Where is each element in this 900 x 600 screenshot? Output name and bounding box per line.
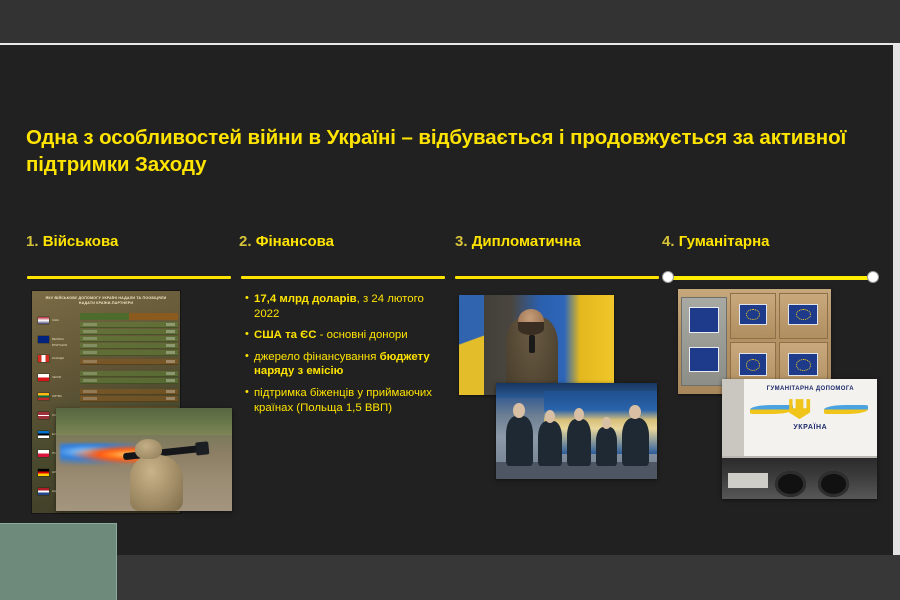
column-number-1: 1. — [26, 233, 39, 250]
slide-right-edge — [893, 45, 900, 555]
bullet-2-rest: - основні донори — [316, 329, 407, 341]
data-row — [80, 389, 178, 395]
flag-uk-icon — [38, 336, 49, 343]
flag-usa-icon — [38, 317, 49, 324]
tarp-side-fold — [722, 379, 744, 456]
column-header-2[interactable]: 2. Фінансова — [239, 233, 334, 250]
person-figure — [596, 427, 617, 465]
list-item: ЧЕХІЯ — [36, 370, 78, 389]
column-header-4[interactable]: 4. Гуманітарна — [662, 233, 770, 250]
list-item: США — [36, 313, 78, 332]
speaker-beard — [518, 322, 544, 335]
ukraine-trident-icon — [789, 399, 811, 419]
person-figure — [622, 418, 649, 466]
truck-wheel — [818, 471, 849, 496]
panel-header-band — [80, 313, 178, 320]
eu-flag-label-icon — [739, 304, 767, 325]
person-figure — [506, 416, 533, 466]
bullet-4-text: підтримка біженців у приймаючих країнах … — [254, 387, 432, 414]
flag-latvia-icon — [38, 412, 49, 419]
soldier-figure — [130, 455, 183, 511]
photo-treeline — [56, 408, 232, 435]
list-item: ВЕЛИКА БРИТАНІЯ — [36, 332, 78, 351]
truck-tarp: ГУМАНІТАРНА ДОПОМОГА УКРАЇНА — [722, 379, 877, 458]
list-item: КАНАДА — [36, 351, 78, 370]
flag-czech-icon — [38, 374, 49, 381]
flag-netherlands-icon — [38, 488, 49, 495]
tarp-country: УКРАЇНА — [744, 424, 877, 431]
column-label-3: Дипломатична — [472, 233, 581, 250]
data-row — [80, 322, 178, 328]
data-row — [80, 396, 178, 402]
green-overlay-panel[interactable] — [0, 523, 117, 600]
bullet-2-bold: США та ЄС — [254, 329, 316, 341]
eu-flag-label-icon — [788, 304, 818, 325]
data-row — [80, 378, 178, 384]
truck-wheel — [775, 471, 806, 496]
column-rule-2[interactable] — [241, 276, 445, 279]
eu-flag-label-icon — [689, 347, 719, 373]
data-row — [80, 336, 178, 342]
selection-handle-left[interactable] — [662, 271, 674, 283]
column-label-4: Гуманітарна — [679, 233, 770, 250]
grey-container — [681, 297, 727, 385]
list-item: підтримка біженців у приймаючих країнах … — [245, 386, 441, 415]
flag-canada-icon — [38, 355, 49, 362]
tarp-heading: ГУМАНІТАРНА ДОПОМОГА — [744, 386, 877, 392]
data-row — [80, 359, 178, 365]
eu-flag-label-icon — [788, 353, 818, 376]
train-platform-delegation-photo[interactable] — [496, 383, 657, 479]
eu-flag-label-icon — [739, 353, 767, 376]
flag-wing-left-icon — [750, 405, 793, 414]
column-label-2: Фінансова — [256, 233, 334, 250]
data-row — [80, 371, 178, 377]
presentation-window: Одна з особливостей війни в Україні – ві… — [0, 0, 900, 600]
flag-wing-right-icon — [824, 405, 867, 414]
data-row — [80, 350, 178, 356]
microphone-icon — [529, 335, 535, 353]
column-number-2: 2. — [239, 233, 252, 250]
bullet-3-lead: джерело фінансування — [254, 351, 380, 363]
column-number-4: 4. — [662, 233, 675, 250]
column-header-3[interactable]: 3. Дипломатична — [455, 233, 581, 250]
soldier-helmet — [135, 439, 161, 460]
flag-estonia-icon — [38, 431, 49, 438]
slide-title[interactable]: Одна з особливостей війни в Україні – ві… — [26, 124, 856, 178]
list-item: джерело фінансування бюджету наряду з ем… — [245, 350, 441, 379]
column-rule-3[interactable] — [455, 276, 659, 279]
toolbar-strip — [0, 0, 900, 43]
column-label-1: Військова — [43, 233, 119, 250]
column-rule-1[interactable] — [27, 276, 231, 279]
soldier-launcher-photo[interactable] — [56, 408, 232, 511]
person-figure — [567, 419, 591, 465]
ukraine-flag-backdrop — [459, 295, 484, 395]
flag-lithuania-icon — [38, 393, 49, 400]
list-item: ЛИТВА — [36, 389, 78, 408]
data-row — [80, 329, 178, 335]
president-speech-photo[interactable] — [459, 295, 614, 395]
infographic-title: ЯКУ ВІЙСЬКОВУ ДОПОМОГУ УКРАЇНІ НАДАЛИ ТА… — [38, 296, 174, 306]
list-item: 17,4 млрд доларів, з 24 лютого 2022 — [245, 292, 441, 321]
column-rule-4-selected[interactable] — [670, 276, 871, 280]
selection-handle-right[interactable] — [867, 271, 879, 283]
humanitarian-aid-truck-photo[interactable]: ГУМАНІТАРНА ДОПОМОГА УКРАЇНА — [722, 379, 877, 499]
flag-germany-icon — [38, 469, 49, 476]
truck-chassis — [722, 458, 877, 499]
list-item: США та ЄС - основні донори — [245, 328, 441, 343]
bullet-1-bold: 17,4 млрд доларів — [254, 293, 357, 305]
person-figure — [538, 421, 562, 465]
data-row — [80, 343, 178, 349]
eu-flag-label-icon — [689, 307, 719, 333]
aid-crate — [779, 293, 828, 339]
truck-cab — [728, 473, 768, 488]
finance-bullet-list[interactable]: 17,4 млрд доларів, з 24 лютого 2022 США … — [245, 292, 441, 422]
column-number-3: 3. — [455, 233, 468, 250]
flag-poland-icon — [38, 450, 49, 457]
column-header-1[interactable]: 1. Військова — [26, 233, 118, 250]
slide-canvas[interactable]: Одна з особливостей війни в Україні – ві… — [0, 45, 893, 555]
aid-crate — [730, 293, 776, 339]
